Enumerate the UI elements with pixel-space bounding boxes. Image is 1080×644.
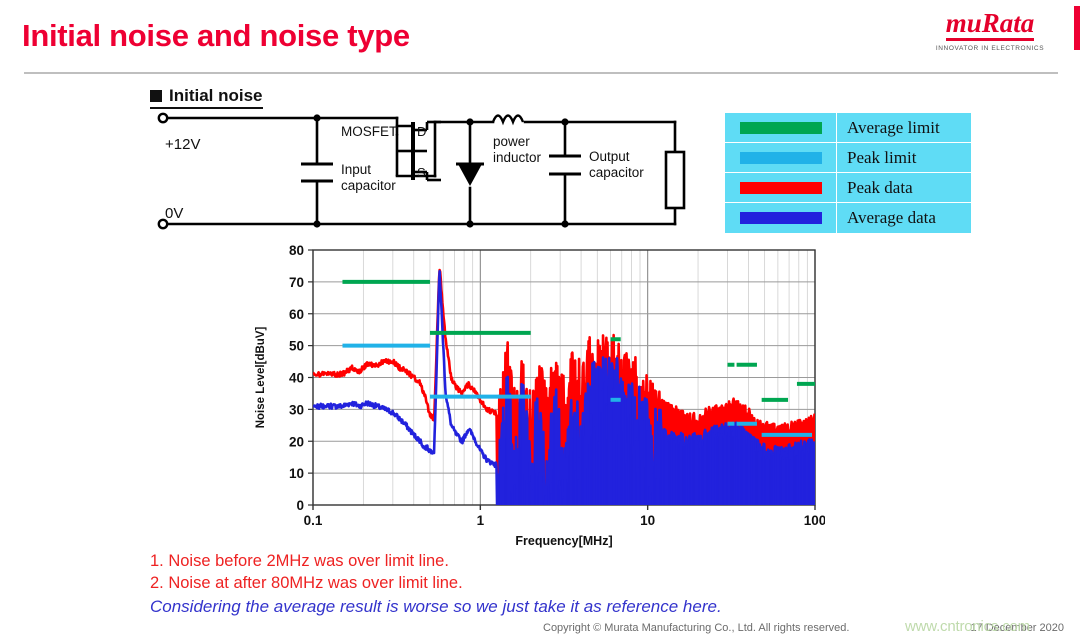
output-capacitor-label-line2: capacitor <box>589 165 644 180</box>
header-divider <box>24 72 1058 74</box>
input-capacitor-label-line2: capacitor <box>341 178 396 193</box>
svg-text:80: 80 <box>289 243 304 258</box>
legend-swatch-cell <box>725 173 837 202</box>
input-capacitor-symbol <box>301 164 333 181</box>
svg-text:70: 70 <box>289 275 304 290</box>
output-capacitor-label-line1: Output <box>589 149 630 164</box>
legend-swatch-peak-limit <box>740 152 822 164</box>
square-bullet-icon <box>150 90 162 102</box>
legend-swatch-cell <box>725 203 837 233</box>
brand-accent-bar <box>1074 6 1080 50</box>
rail-ground-label: 0V <box>165 205 183 222</box>
svg-text:100: 100 <box>804 513 825 528</box>
svg-text:10: 10 <box>289 466 304 481</box>
legend-swatch-peak-data <box>740 182 822 194</box>
note-line-2: 2. Noise at after 80MHz was over limit l… <box>150 572 970 594</box>
legend-item-peak-limit: Peak limit <box>725 143 971 173</box>
site-watermark: www.cntronics.com <box>905 618 1030 635</box>
svg-text:1: 1 <box>477 513 485 528</box>
footer-copyright: Copyright © Murata Manufacturing Co., Lt… <box>543 622 849 634</box>
legend-label-average-limit: Average limit <box>837 118 940 138</box>
noise-level-chart: 010203040506070800.1110100Frequency[MHz]… <box>250 240 825 550</box>
mosfet-source-label: S <box>417 165 426 180</box>
rail-positive-label: +12V <box>165 136 200 153</box>
svg-text:50: 50 <box>289 339 304 354</box>
svg-text:Noise Level[dBuV]: Noise Level[dBuV] <box>255 327 267 429</box>
svg-text:30: 30 <box>289 402 304 417</box>
svg-text:60: 60 <box>289 307 304 322</box>
power-inductor-label-line2: inductor <box>493 150 542 165</box>
load-resistor-symbol <box>666 152 684 208</box>
legend-swatch-average-limit <box>740 122 822 134</box>
murata-logo: muRata INNOVATOR IN ELECTRONICS <box>920 10 1060 52</box>
note-line-3: Considering the average result is worse … <box>150 596 970 619</box>
brand-wordmark: muRata <box>946 10 1035 41</box>
mosfet-drain-label: D <box>417 124 426 139</box>
chart-legend: Average limit Peak limit Peak data Avera… <box>724 112 972 234</box>
buck-converter-circuit-diagram: +12V 0V Input capacitor MOSFET D S power… <box>145 104 705 244</box>
svg-text:40: 40 <box>289 371 304 386</box>
legend-swatch-average-data <box>740 212 822 224</box>
legend-label-peak-data: Peak data <box>837 178 913 198</box>
input-capacitor-label-line1: Input <box>341 162 371 177</box>
diode-symbol <box>456 164 484 186</box>
svg-text:0: 0 <box>296 498 304 513</box>
legend-swatch-cell <box>725 143 837 172</box>
svg-text:Frequency[MHz]: Frequency[MHz] <box>515 534 612 548</box>
notes-block: 1. Noise before 2MHz was over limit line… <box>150 550 970 618</box>
svg-text:0.1: 0.1 <box>304 513 323 528</box>
page-title: Initial noise and noise type <box>22 18 410 54</box>
power-inductor-symbol <box>493 116 523 123</box>
legend-item-average-data: Average data <box>725 203 971 233</box>
legend-swatch-cell <box>725 113 837 142</box>
terminal-positive <box>159 114 167 122</box>
svg-text:10: 10 <box>640 513 655 528</box>
note-line-1: 1. Noise before 2MHz was over limit line… <box>150 550 970 572</box>
chart-canvas: 010203040506070800.1110100Frequency[MHz]… <box>250 240 825 550</box>
power-inductor-label-line1: power <box>493 134 530 149</box>
section-heading-label: Initial noise <box>169 86 263 106</box>
legend-item-average-limit: Average limit <box>725 113 971 143</box>
legend-label-peak-limit: Peak limit <box>837 148 916 168</box>
svg-text:20: 20 <box>289 434 304 449</box>
output-capacitor-symbol <box>549 156 581 174</box>
brand-tagline: INNOVATOR IN ELECTRONICS <box>920 45 1060 52</box>
legend-label-average-data: Average data <box>837 208 936 228</box>
mosfet-label: MOSFET <box>341 124 397 139</box>
legend-item-peak-data: Peak data <box>725 173 971 203</box>
